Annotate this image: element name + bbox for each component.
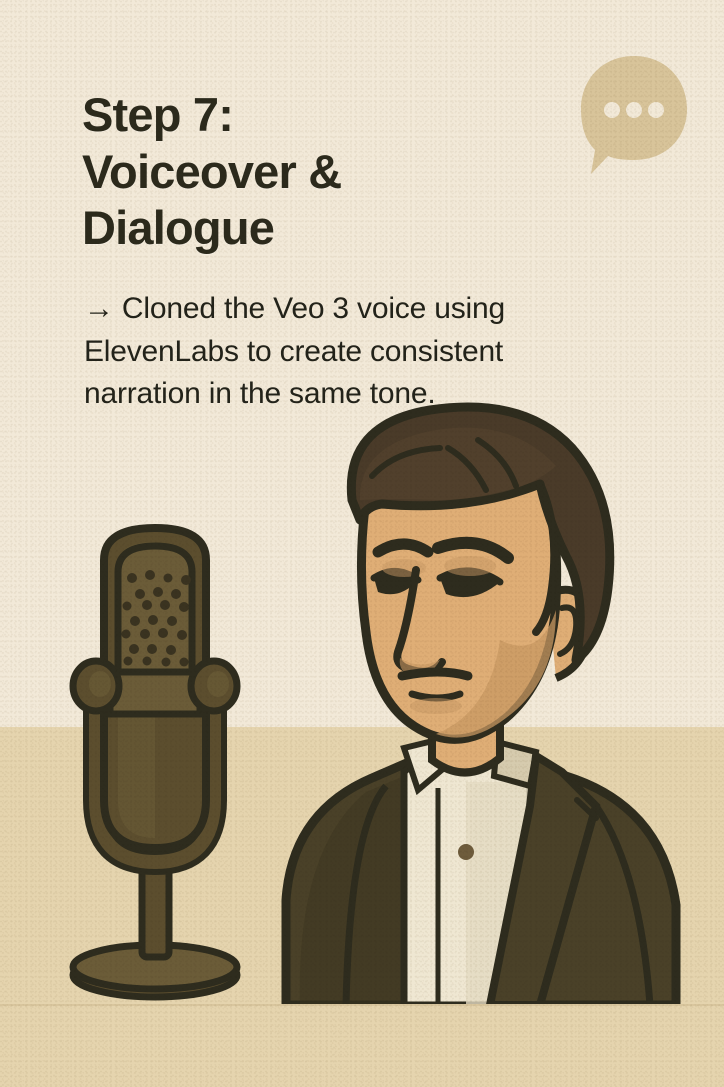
page-title: Step 7: Voiceover & Dialogue xyxy=(82,87,552,256)
bubble-dot-3 xyxy=(648,102,664,118)
speech-bubble-ellipsis-icon xyxy=(575,50,693,190)
person-illustration xyxy=(286,407,676,1005)
poster-canvas: Step 7: Voiceover & Dialogue → Cloned th… xyxy=(0,0,724,1087)
microphone-illustration xyxy=(73,528,237,997)
bubble-dot-1 xyxy=(604,102,620,118)
body-description: → Cloned the Veo 3 voice using ElevenLab… xyxy=(84,288,604,416)
bubble-dot-2 xyxy=(626,102,642,118)
